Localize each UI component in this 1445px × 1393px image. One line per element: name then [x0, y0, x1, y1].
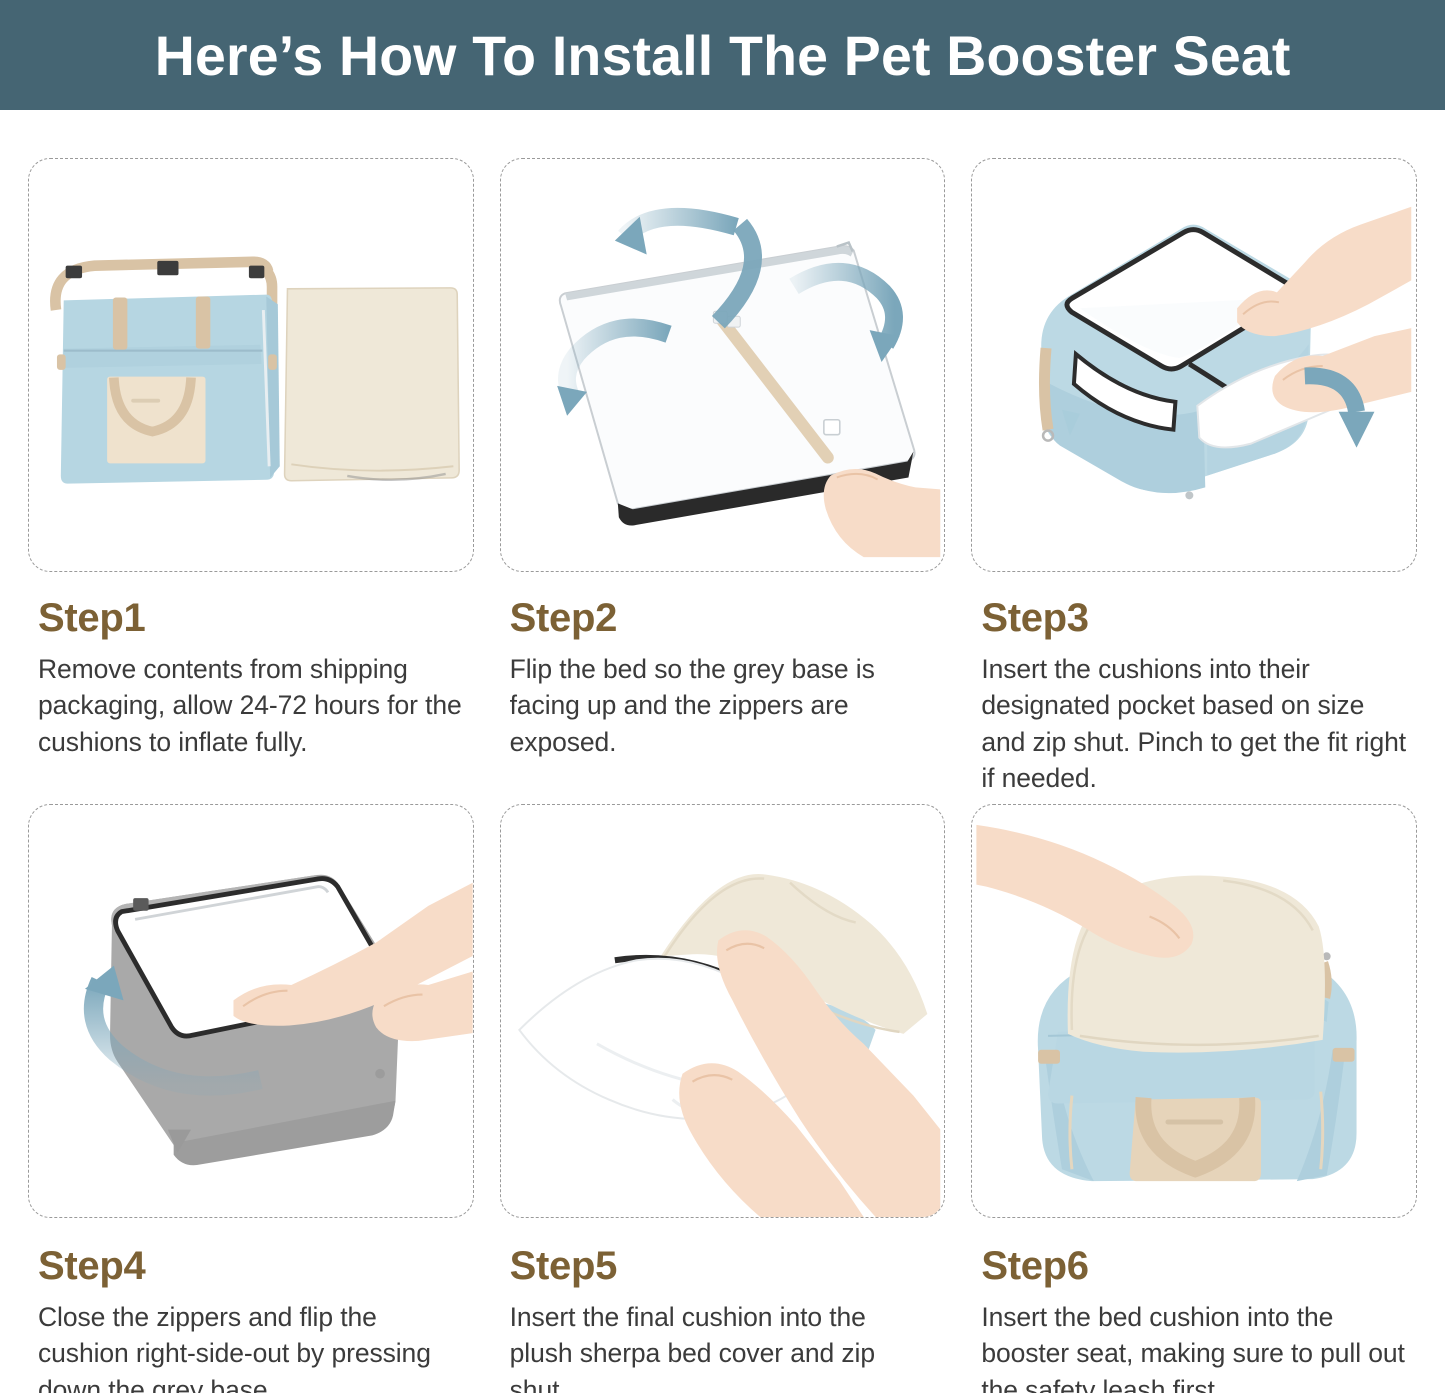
step-1-description: Remove contents from shipping packaging,… — [38, 651, 463, 760]
step-5-figure — [500, 804, 946, 1218]
step-1-title: Step1 — [38, 596, 474, 641]
step-4-title: Step4 — [38, 1244, 474, 1289]
step-5-title: Step5 — [510, 1244, 946, 1289]
page-title: Here’s How To Install The Pet Booster Se… — [155, 23, 1291, 88]
hand-icon — [823, 469, 940, 557]
step-6-description: Insert the bed cushion into the booster … — [981, 1299, 1406, 1393]
step-5-description: Insert the final cushion into the plush … — [510, 1299, 935, 1393]
blue-carry-bag-icon — [57, 295, 280, 484]
step-6-title: Step6 — [981, 1244, 1417, 1289]
step-3-description: Insert the cushions into their designate… — [981, 651, 1406, 796]
step-1-figure — [28, 158, 474, 572]
steps-grid: Step1 Remove contents from shipping pack… — [0, 110, 1445, 1393]
header-bar: Here’s How To Install The Pet Booster Se… — [0, 0, 1445, 110]
step-3-title: Step3 — [981, 596, 1417, 641]
step-card-3: Step3 Insert the cushions into their des… — [971, 158, 1417, 796]
step-2-figure — [500, 158, 946, 572]
step-card-1: Step1 Remove contents from shipping pack… — [28, 158, 474, 796]
step-2-title: Step2 — [510, 596, 946, 641]
step-2-description: Flip the bed so the grey base is facing … — [510, 651, 935, 760]
step-card-4: Step4 Close the zippers and flip the cus… — [28, 804, 474, 1393]
step-6-figure — [971, 804, 1417, 1218]
step-card-2: Step2 Flip the bed so the grey base is f… — [500, 158, 946, 796]
blue-shell-icon — [1042, 225, 1312, 500]
flip-arrow-top-left-icon — [615, 217, 736, 255]
step-card-5: Step5 Insert the final cushion into the … — [500, 804, 946, 1393]
sherpa-blanket-icon — [285, 288, 460, 481]
step-4-figure — [28, 804, 474, 1218]
step-4-description: Close the zippers and flip the cushion r… — [38, 1299, 463, 1393]
step-card-6: Step6 Insert the bed cushion into the bo… — [971, 804, 1417, 1393]
step-3-figure — [971, 158, 1417, 572]
